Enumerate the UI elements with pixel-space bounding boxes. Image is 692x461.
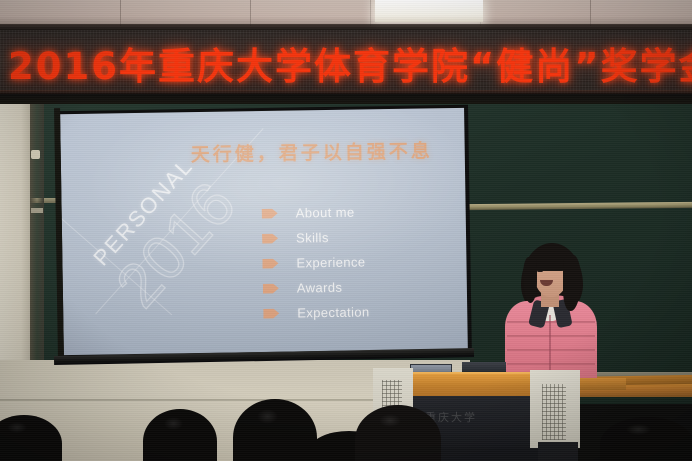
hair-highlight <box>257 409 279 424</box>
arrow-bullet-icon <box>262 208 278 218</box>
slide-agenda-list: About me Skills Experience Awards Expect… <box>262 201 370 328</box>
list-item-label: Expectation <box>297 304 370 320</box>
list-item: About me <box>262 201 369 224</box>
track-clip-icon <box>31 150 40 159</box>
hair-highlight <box>626 424 650 435</box>
jacket-quilt-line <box>507 335 595 337</box>
list-item-label: About me <box>296 205 355 221</box>
list-item-label: Experience <box>296 254 365 270</box>
arrow-bullet-icon <box>263 308 279 318</box>
list-item: Awards <box>263 276 370 299</box>
jacket-quilt-line <box>507 349 595 351</box>
slide-headline: 天行健，君子以自强不息 <box>191 136 433 167</box>
podium-side-desk <box>578 378 626 390</box>
slide-surface: PERSONAL 2016 天行健，君子以自强不息 About me Skill… <box>60 108 468 355</box>
lecture-hall-photo: 2016年重庆大学体育学院“健尚”奖学金 PERSONAL 2016 天行健，君… <box>0 0 692 461</box>
track-clip-icon <box>31 208 43 213</box>
list-item-label: Awards <box>297 280 343 296</box>
presenter <box>505 243 597 383</box>
list-item: Skills <box>262 226 369 249</box>
projection-screen: PERSONAL 2016 天行健，君子以自强不息 About me Skill… <box>56 105 472 363</box>
ceiling-tile <box>120 0 251 26</box>
hair-highlight <box>164 417 183 429</box>
arrow-bullet-icon <box>263 283 279 293</box>
speaker-grille-icon <box>542 384 566 440</box>
ceiling-tile <box>250 0 371 26</box>
arrow-bullet-icon <box>262 233 278 243</box>
list-item: Expectation <box>263 301 370 324</box>
hair-highlight <box>379 414 401 427</box>
list-item-label: Skills <box>296 230 329 246</box>
podium-base-right <box>538 442 578 461</box>
ceiling-light-panel <box>375 0 483 22</box>
arrow-bullet-icon <box>262 258 278 268</box>
audience-head <box>600 417 692 461</box>
list-item: Experience <box>262 251 369 274</box>
led-banner: 2016年重庆大学体育学院“健尚”奖学金 <box>0 30 692 96</box>
led-banner-text: 2016年重庆大学体育学院“健尚”奖学金 <box>8 36 692 90</box>
ceiling-tile <box>480 0 591 26</box>
sliding-board-track <box>30 104 44 394</box>
hair-highlight <box>7 422 27 433</box>
left-wall <box>0 104 30 404</box>
presenter-hair-left <box>523 257 537 303</box>
ceiling-tile <box>0 0 121 26</box>
jacket-quilt-line <box>507 321 595 323</box>
